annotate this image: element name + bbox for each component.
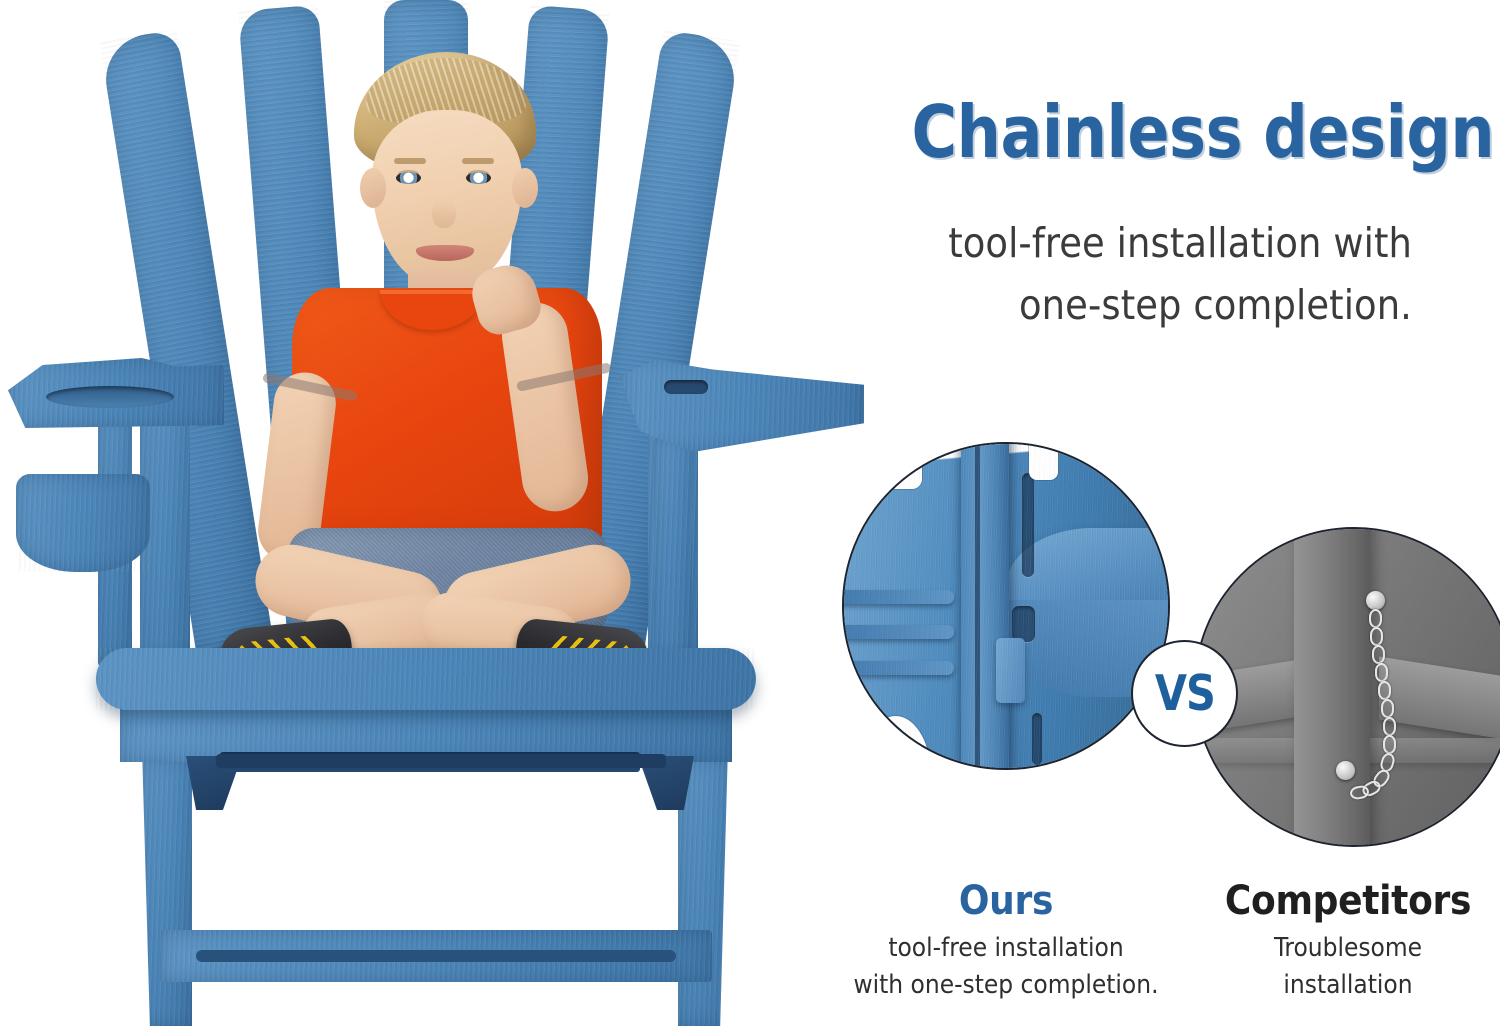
chain-link <box>1378 681 1391 700</box>
boy-ear-left <box>360 168 386 208</box>
chain-link <box>1375 663 1388 682</box>
boy-eye-left <box>396 172 421 184</box>
product-feature-image: Chainless design tool-free installation … <box>0 0 1500 1031</box>
boy-brow-left <box>394 158 426 164</box>
chain-link <box>1370 627 1383 646</box>
competitors-desc-line-2: installation <box>1196 967 1500 1004</box>
ours-desc-line-1: tool-free installation <box>806 930 1206 967</box>
page-subtitle: tool-free installation with one-step com… <box>760 212 1500 337</box>
chair-slot-right <box>664 380 708 394</box>
vs-badge: VS <box>1131 640 1238 747</box>
boy-brow-right <box>462 158 494 164</box>
chair-cupholder-cylinder-left <box>16 474 150 572</box>
competitor-metal-chain <box>1338 595 1401 804</box>
chair-seat-groove <box>216 754 666 768</box>
chair-seat-front-roll <box>96 648 756 710</box>
chain-link <box>1383 717 1396 736</box>
chain-link <box>1372 645 1385 664</box>
boy <box>236 52 636 692</box>
subtitle-line-1: tool-free installation with <box>760 212 1412 274</box>
ours-description: tool-free installation with one-step com… <box>806 930 1206 1004</box>
chain-anchor-bottom <box>1336 761 1355 780</box>
chain-link <box>1369 609 1382 628</box>
chair-cupholder-recess-left <box>46 386 174 408</box>
chair-front-leg-left <box>138 758 192 1026</box>
boy-ear-right <box>512 168 538 208</box>
chain-link <box>1383 735 1396 754</box>
competitor-closeup-image <box>1194 527 1500 847</box>
boy-eye-right <box>466 172 491 184</box>
chain-anchor-top <box>1366 591 1385 610</box>
ours-title: Ours <box>806 880 1206 923</box>
ours-desc-line-2: with one-step completion. <box>806 967 1206 1004</box>
subtitle-line-2: one-step completion. <box>760 274 1412 336</box>
page-title: Chainless design <box>732 96 1500 168</box>
competitors-title: Competitors <box>1196 880 1500 923</box>
chair-armrest-support-right <box>654 436 692 676</box>
chair-stretcher-groove <box>196 950 676 962</box>
ours-wood-grain-texture <box>844 444 1168 768</box>
ours-closeup-image <box>842 442 1170 770</box>
competitors-description: Troublesome installation <box>1196 930 1500 1004</box>
boy-nose <box>432 200 456 228</box>
chain-link <box>1349 785 1370 801</box>
hero-photo-boy-in-chair <box>0 0 790 1031</box>
competitors-caption: Competitors Troublesome installation <box>1196 880 1500 1004</box>
ours-caption: Ours tool-free installation with one-ste… <box>806 880 1206 1004</box>
vs-label: VS <box>1154 665 1214 722</box>
chain-link <box>1381 699 1394 718</box>
competitors-desc-line-1: Troublesome <box>1196 930 1500 967</box>
